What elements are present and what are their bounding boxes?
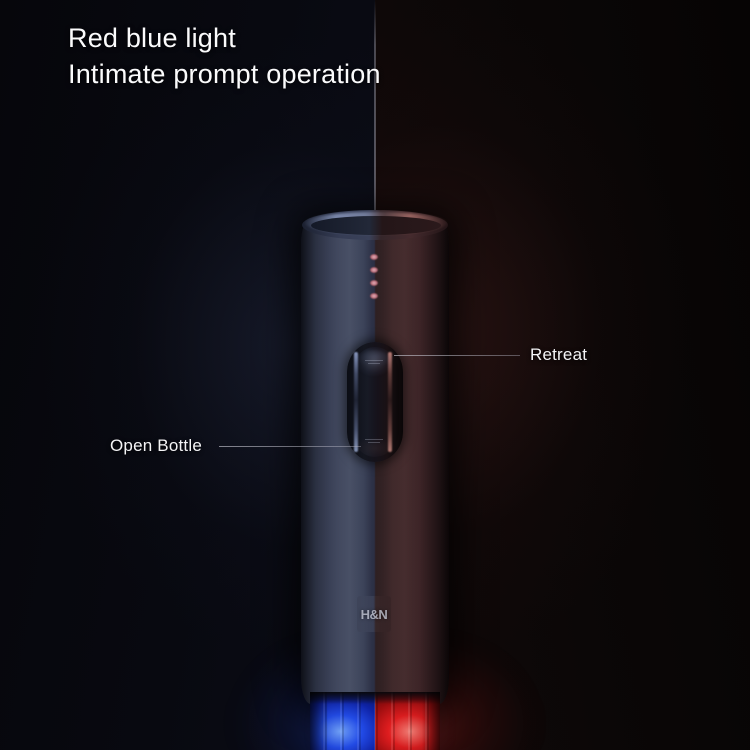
- callout-label-open-bottle: Open Bottle: [110, 436, 202, 456]
- open-bottle-arrow-icon: [365, 437, 383, 446]
- brand-logo-text: H&N: [361, 607, 388, 622]
- led-indicator-group: [369, 254, 381, 308]
- retreat-arrow-icon: [365, 358, 383, 367]
- control-button[interactable]: [347, 342, 403, 462]
- callout-label-retreat: Retreat: [530, 345, 587, 365]
- led-indicator-dot: [370, 280, 378, 286]
- callout-leader-line-open-bottle: [219, 446, 361, 447]
- led-indicator-dot: [370, 254, 378, 260]
- device-top-cap: [302, 210, 448, 240]
- led-indicator-dot: [370, 267, 378, 273]
- headline-line-2: Intimate prompt operation: [68, 56, 628, 92]
- led-indicator-dot: [370, 293, 378, 299]
- illuminated-base: [310, 692, 440, 750]
- cap-inner-face: [311, 216, 441, 235]
- product-feature-image: Red blue light Intimate prompt operation: [0, 0, 750, 750]
- brand-logo-badge: H&N: [357, 596, 391, 632]
- headline: Red blue light Intimate prompt operation: [68, 20, 628, 92]
- product-device: H&N: [301, 210, 449, 710]
- base-cylinder-shading: [310, 692, 440, 750]
- headline-line-1: Red blue light: [68, 20, 628, 56]
- callout-leader-line-retreat: [394, 355, 520, 356]
